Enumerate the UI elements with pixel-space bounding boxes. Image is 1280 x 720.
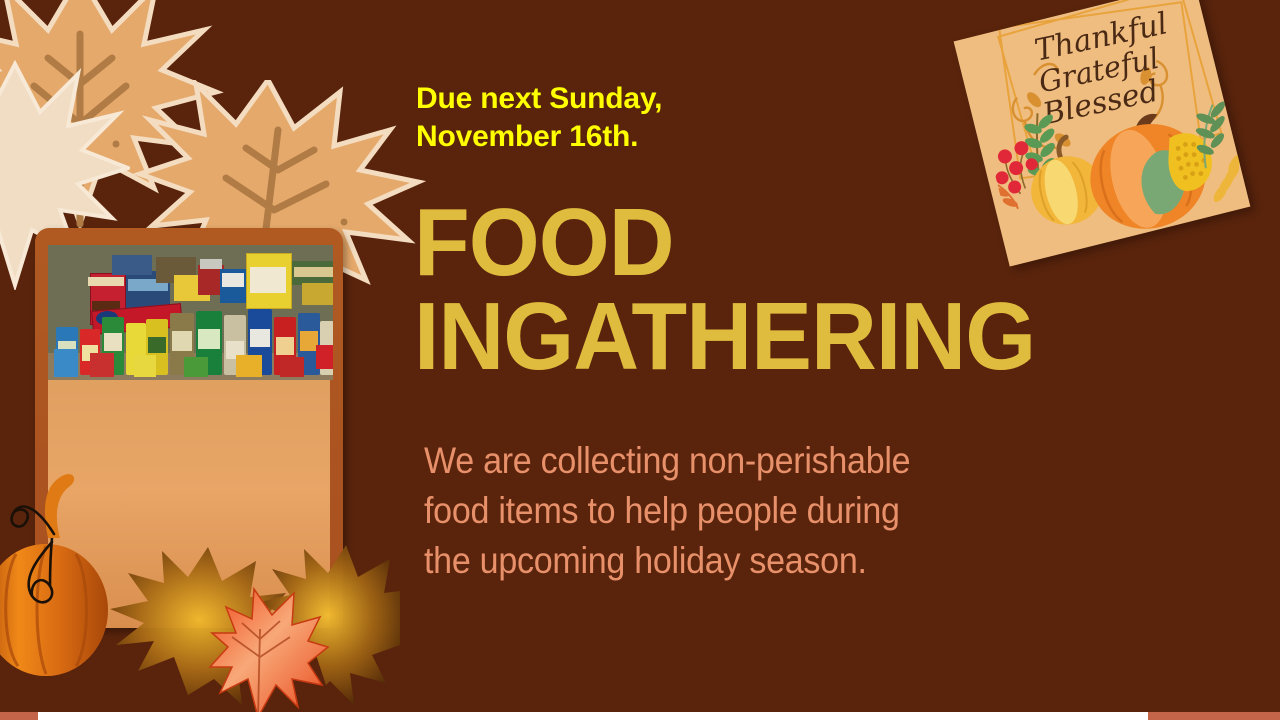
next-slide-sliver xyxy=(0,712,1280,720)
pumpkin-icon xyxy=(0,468,120,683)
food-items-photo xyxy=(48,245,333,380)
headline-line-2: INGATHERING xyxy=(414,290,1070,384)
headline-line-1: FOOD xyxy=(414,196,1070,290)
body-line-1: We are collecting non-perishable xyxy=(424,436,1086,486)
next-slide-accent-right xyxy=(1148,712,1280,720)
page-title: FOOD INGATHERING xyxy=(414,196,1070,384)
next-slide-accent-left xyxy=(0,712,38,720)
autumn-leaf-cluster-icon xyxy=(110,545,400,720)
body-line-3: the upcoming holiday season. xyxy=(424,536,1086,586)
due-date-line-1: Due next Sunday, xyxy=(416,80,936,118)
due-date-line-2: November 16th. xyxy=(416,118,936,156)
due-date-notice: Due next Sunday, November 16th. xyxy=(416,80,936,157)
body-line-2: food items to help people during xyxy=(424,486,1086,536)
slide-canvas: Thankful Grateful Blessed xyxy=(0,0,1280,720)
body-description: We are collecting non-perishable food it… xyxy=(424,436,1086,586)
